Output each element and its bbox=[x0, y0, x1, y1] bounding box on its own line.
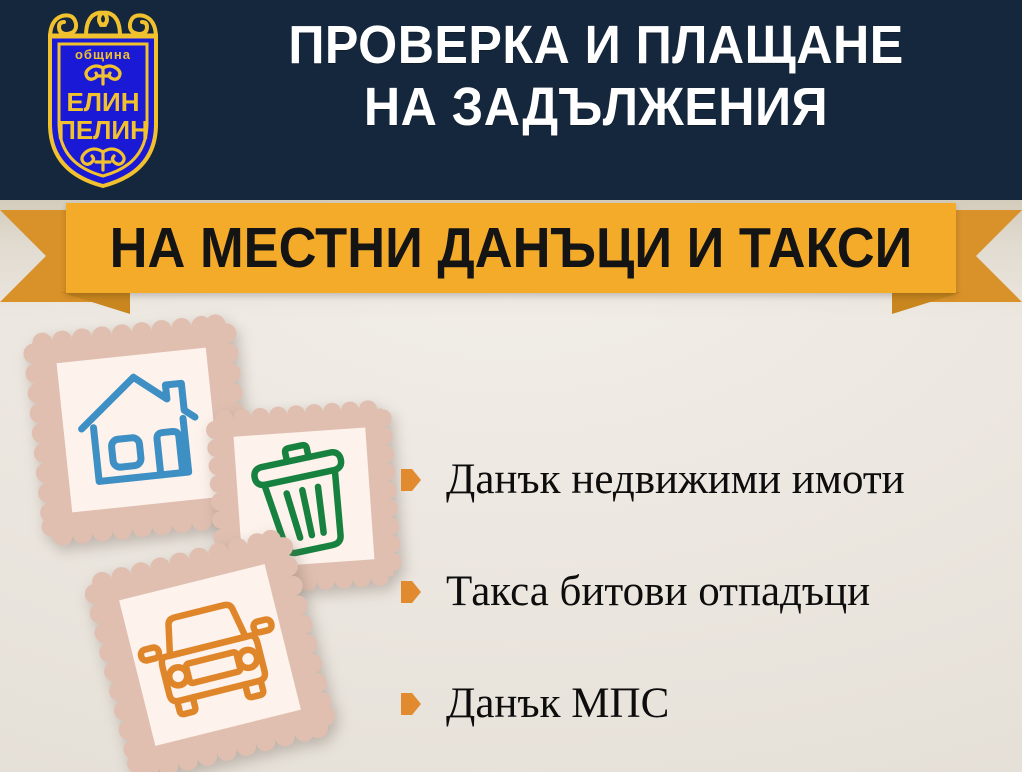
emblem-name-line2: ПЕЛИН bbox=[57, 115, 149, 145]
coat-of-arms-icon: община ЕЛИН ПЕЛИН bbox=[28, 6, 178, 192]
poster-header: община ЕЛИН ПЕЛИН bbox=[0, 0, 1022, 200]
list-item[interactable]: Такса битови отпадъци bbox=[400, 536, 1022, 648]
page-title: ПРОВЕРКА И ПЛАЩАНЕ НА ЗАДЪЛЖЕНИЯ bbox=[218, 14, 973, 138]
list-item-label: Данък МПС bbox=[446, 681, 669, 726]
list-item-label: Данък недвижими имоти bbox=[446, 457, 905, 502]
subtitle-ribbon: НА МЕСТНИ ДАНЪЦИ И ТАКСИ bbox=[0, 196, 1022, 314]
list-item-label: Такса битови отпадъци bbox=[446, 569, 870, 614]
stamp-card-vehicle-tax bbox=[85, 530, 335, 772]
ribbon-fold-right bbox=[892, 292, 962, 314]
bullet-arrow-icon bbox=[400, 691, 430, 721]
ribbon-label: НА МЕСТНИ ДАНЪЦИ И ТАКСИ bbox=[102, 203, 921, 293]
page-title-line-2: НА ЗАДЪЛЖЕНИЯ bbox=[218, 76, 973, 138]
poster-canvas: община ЕЛИН ПЕЛИН bbox=[0, 0, 1022, 772]
bullet-arrow-icon bbox=[400, 579, 430, 609]
list-item[interactable]: Данък недвижими имоти bbox=[400, 424, 1022, 536]
page-title-line-1: ПРОВЕРКА И ПЛАЩАНЕ bbox=[288, 15, 903, 75]
emblem-name-line1: ЕЛИН bbox=[66, 87, 139, 117]
list-item[interactable]: Данък МПС bbox=[400, 648, 1022, 760]
obligation-list: Данък недвижими имоти Такса битови отпад… bbox=[400, 424, 1022, 760]
emblem-top-word: община bbox=[75, 47, 131, 62]
bullet-arrow-icon bbox=[400, 467, 430, 497]
emblem: община ЕЛИН ПЕЛИН bbox=[28, 6, 178, 192]
